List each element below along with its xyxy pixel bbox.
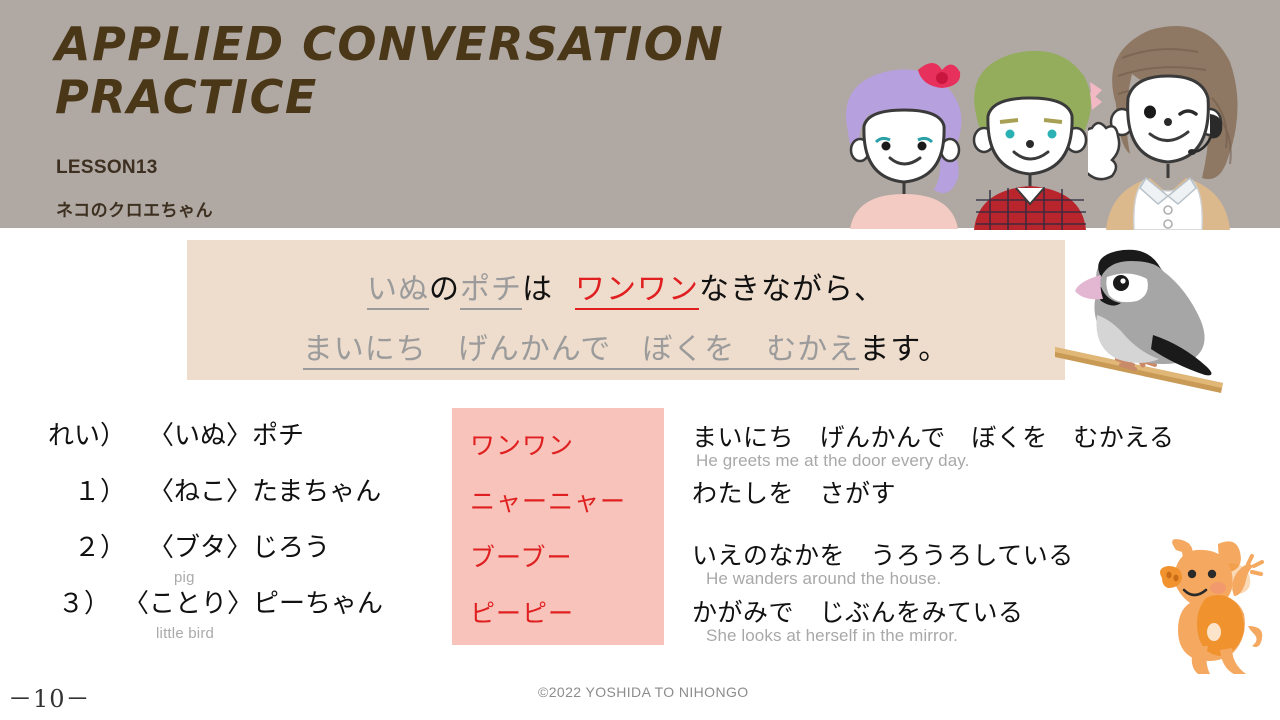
answer-japanese: まいにち げんかんで ぼくを むかえる (692, 418, 1175, 454)
particle-wa: は (522, 272, 553, 307)
list-item-number: ２） (22, 527, 126, 564)
list-item-animal: 〈いぬ〉 (148, 421, 252, 451)
onomatopoeia-panel: ワンワン ニャーニャー ブーブー ピーピー (452, 408, 664, 645)
list-item-animal: 〈ブタ〉 (148, 533, 252, 563)
waving-pig-icon (1148, 534, 1276, 674)
answer-japanese: わたしを さがす (692, 474, 896, 510)
boy-green-hair-icon (960, 40, 1100, 230)
blank-inu: いぬ (367, 272, 429, 310)
characters-illustration (830, 14, 1250, 228)
sentence-line-2: まいにち げんかんで ぼくを むかえます。 (187, 324, 1065, 368)
sentence-tail-2: ます。 (859, 332, 949, 367)
answer-english: He wanders around the house. (706, 569, 941, 589)
list-item-animal: 〈ねこ〉 (148, 477, 252, 507)
woman-headset-waving-icon (1088, 18, 1248, 230)
java-sparrow-on-perch-icon (1055, 243, 1270, 393)
lesson-subtitle: ネコのクロエちゃん (56, 196, 213, 221)
accent-wanwan: ワンワン (575, 272, 699, 310)
list-item[interactable]: ３）〈ことり〉ピーちゃん little bird (22, 583, 442, 639)
list-item-animal: 〈ことり〉 (123, 589, 253, 619)
onomatopoeia-item: ワンワン (470, 426, 574, 462)
lesson-label: LESSON13 (56, 157, 158, 179)
particle-no: の (429, 272, 460, 307)
answer-english: She looks at herself in the mirror. (706, 626, 958, 646)
list-item[interactable]: ２）〈ブタ〉じろう pig (22, 527, 442, 583)
answer-japanese: かがみで じぶんをみている (692, 593, 1024, 629)
list-item-pet: たまちゃん (252, 477, 381, 507)
sentence-tail-1: なきながら、 (699, 272, 885, 307)
onomatopoeia-item: ピーピー (470, 594, 574, 630)
girl-purple-hair-icon (830, 54, 980, 229)
answer-english: He greets me at the door every day. (696, 451, 969, 471)
list-item-pet: ピーちゃん (253, 589, 383, 619)
onomatopoeia-item: ニャーニャー (470, 482, 626, 518)
sentence-line-1: いぬのポチはワンワンなきながら、 (187, 264, 1065, 308)
onomatopoeia-item: ブーブー (470, 538, 573, 574)
page-number: －10－ (8, 679, 91, 714)
answer-japanese: いえのなかを うろうろしている (692, 536, 1074, 572)
example-sentence-box: いぬのポチはワンワンなきながら、 まいにち げんかんで ぼくを むかえます。 (187, 240, 1065, 380)
slide-header: APPLIED CONVERSATION PRACTICE LESSON13 ネ… (0, 0, 1280, 228)
list-item[interactable]: １）〈ねこ〉たまちゃん (22, 471, 442, 527)
list-item-pet: ポチ (252, 421, 304, 451)
practice-item-list: れい）〈いぬ〉ポチ １）〈ねこ〉たまちゃん ２）〈ブタ〉じろう pig ３）〈こ… (22, 415, 442, 639)
copyright-notice: ©2022 YOSHIDA TO NIHONGO (538, 684, 749, 700)
blank-pochi: ポチ (460, 272, 522, 310)
list-item[interactable]: れい）〈いぬ〉ポチ (22, 415, 442, 471)
list-item-number: １） (22, 471, 126, 508)
blank-predicate: まいにち げんかんで ぼくを むかえ (303, 332, 860, 370)
list-item-gloss: little bird (156, 625, 214, 642)
list-item-number: ３） (22, 583, 110, 620)
list-item-pet: じろう (252, 533, 330, 563)
page-title: APPLIED CONVERSATION PRACTICE (55, 18, 885, 125)
list-item-number: れい） (22, 415, 126, 452)
